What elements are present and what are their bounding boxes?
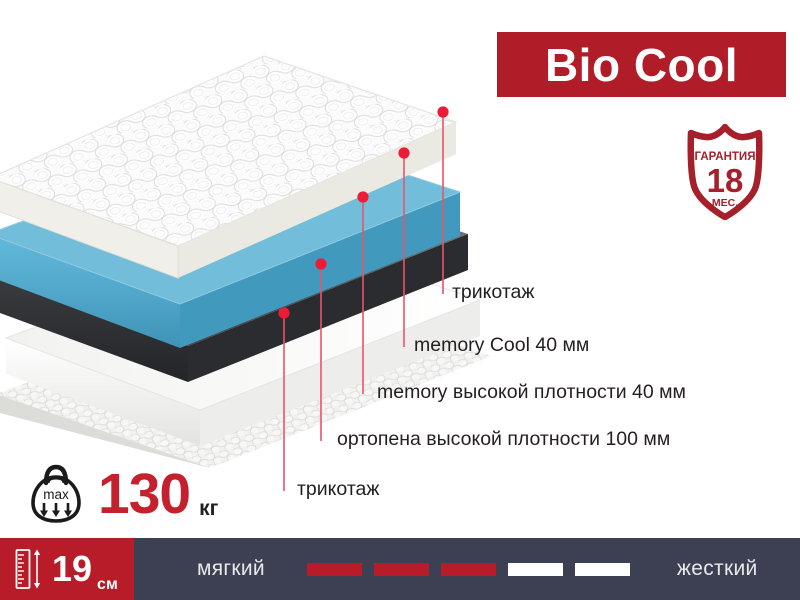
warranty-value: 18 xyxy=(707,162,744,199)
layer-label-memory-cool: memory Cool 40 мм xyxy=(414,334,589,357)
max-weight-value: 130 xyxy=(98,466,190,523)
warranty-badge: ГАРАНТИЯ 18 МЕС. xyxy=(682,124,768,220)
firmness-segment xyxy=(307,563,362,576)
kettlebell-max-text: max xyxy=(43,487,69,502)
firmness-hard-label: жесткий xyxy=(677,557,758,581)
firmness-segment xyxy=(441,563,496,576)
warranty-unit: МЕС. xyxy=(712,197,738,209)
firmness-soft-label: мягкий xyxy=(197,557,265,581)
ruler-icon xyxy=(14,547,44,591)
layer-label-high-density-memory: memory высокой плотности 40 мм xyxy=(377,381,686,404)
max-weight-block: max 130 кг xyxy=(28,458,218,530)
firmness-segment xyxy=(508,563,563,576)
bottom-bar: 19 см мягкий жесткий xyxy=(0,538,800,600)
product-infographic: трикотаж memory Cool 40 мм memory высоко… xyxy=(0,0,800,600)
layer-label-knit-bottom: трикотаж xyxy=(297,478,379,501)
layer-label-knit-top: трикотаж xyxy=(452,281,534,304)
firmness-segments xyxy=(307,563,630,576)
kettlebell-icon: max xyxy=(28,463,84,525)
height-unit: см xyxy=(97,576,118,594)
firmness-scale-block: мягкий жесткий xyxy=(134,538,800,600)
height-block: 19 см xyxy=(0,538,134,600)
product-title-banner: Bio Cool xyxy=(497,32,786,97)
page-title: Bio Cool xyxy=(545,42,738,88)
layer-label-ortho-foam: ортопена высокой плотности 100 мм xyxy=(337,428,670,451)
firmness-segment xyxy=(374,563,429,576)
height-value: 19 xyxy=(52,551,92,587)
firmness-segment xyxy=(575,563,630,576)
max-weight-unit: кг xyxy=(199,497,218,521)
